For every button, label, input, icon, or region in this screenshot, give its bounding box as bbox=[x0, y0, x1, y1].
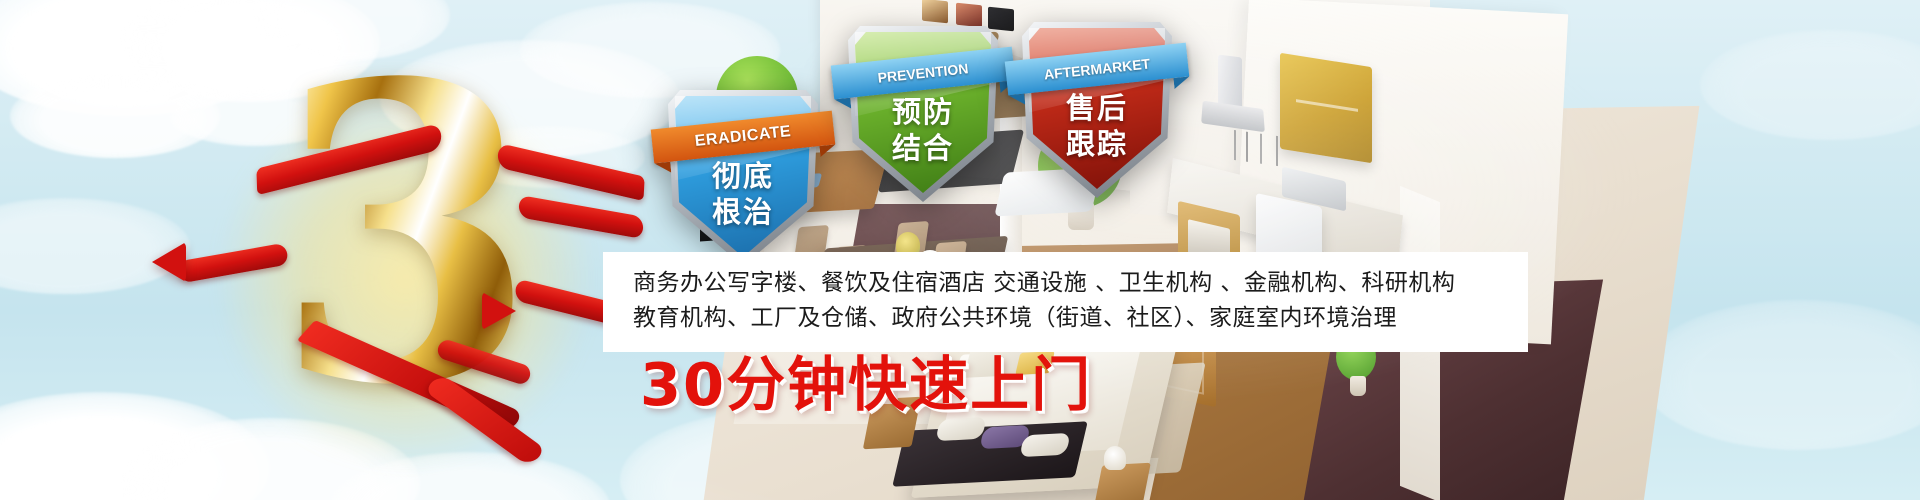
ribbon-arrow-right-icon bbox=[482, 292, 516, 330]
badge-english-label: ERADICATE bbox=[694, 123, 792, 151]
badge-chinese-label: 彻底 根治 bbox=[668, 158, 818, 230]
badge-chinese-line1: 预防 bbox=[848, 94, 998, 130]
badge-chinese-line2: 根治 bbox=[668, 194, 818, 230]
badge-chinese-label: 售后 跟踪 bbox=[1022, 90, 1172, 162]
badge-english-label: PREVENTION bbox=[877, 60, 969, 85]
service-scope-panel: 商务办公写字楼、餐饮及住宿酒店 交通设施 、卫生机构 、金融机构、科研机构 教育… bbox=[603, 252, 1528, 352]
golden-number-three: 3 bbox=[196, 78, 616, 478]
badge-chinese-line1: 彻底 bbox=[668, 158, 818, 194]
service-scope-line-1: 商务办公写字楼、餐饮及住宿酒店 交通设施 、卫生机构 、金融机构、科研机构 bbox=[633, 266, 1528, 301]
badge-chinese-label: 预防 结合 bbox=[848, 94, 998, 166]
badge-english-label: AFTERMARKET bbox=[1043, 55, 1151, 82]
service-scope-line-2: 教育机构、工厂及仓储、政府公共环境（街道、社区）、家庭室内环境治理 bbox=[633, 301, 1528, 336]
badge-chinese-line1: 售后 bbox=[1022, 90, 1172, 126]
badge-chinese-line2: 跟踪 bbox=[1022, 126, 1172, 162]
ribbon-arrow-left-icon bbox=[152, 242, 186, 282]
badge-eradicate[interactable]: ERADICATE 彻底 根治 bbox=[668, 90, 818, 266]
promotional-banner: 3 ERADICATE 彻底 根治 PRE bbox=[0, 0, 1920, 500]
badge-chinese-line2: 结合 bbox=[848, 130, 998, 166]
headline-text: 30分钟快速上门 bbox=[640, 352, 1092, 418]
badge-aftermarket[interactable]: AFTERMARKET 售后 跟踪 bbox=[1022, 22, 1172, 198]
badge-prevention[interactable]: PREVENTION 预防 结合 bbox=[848, 26, 998, 202]
